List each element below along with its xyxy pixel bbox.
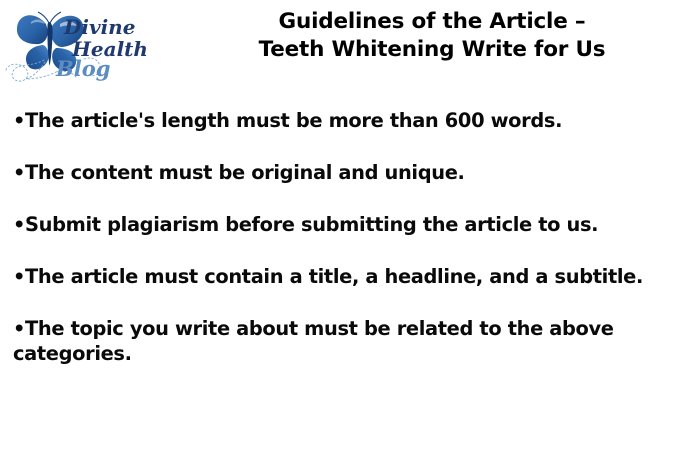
- list-item: •The topic you write about must be relat…: [13, 316, 673, 366]
- slide-page: Divine Health Blog Guidelines of the Art…: [0, 0, 700, 450]
- logo-word-blog: Blog: [55, 56, 110, 81]
- logo-word-divine: Divine: [63, 15, 135, 39]
- list-item: •The content must be original and unique…: [13, 160, 673, 185]
- list-item: •The article must contain a title, a hea…: [13, 264, 673, 289]
- bullet-icon: •: [13, 265, 25, 288]
- logo-artwork: Divine Health Blog: [4, 4, 159, 86]
- logo-wordmark: Divine Health Blog: [55, 15, 148, 81]
- page-title-line-1: Guidelines of the Article –: [172, 8, 692, 36]
- list-item-text: The article must contain a title, a head…: [25, 265, 643, 288]
- divine-health-blog-logo: Divine Health Blog: [4, 4, 159, 86]
- page-title: Guidelines of the Article – Teeth Whiten…: [172, 8, 692, 64]
- list-item: •Submit plagiarism before submitting the…: [13, 212, 673, 237]
- bullet-icon: •: [13, 317, 25, 340]
- list-item-text: The topic you write about must be relate…: [13, 317, 614, 365]
- bullet-icon: •: [13, 213, 25, 236]
- list-item-text: Submit plagiarism before submitting the …: [25, 213, 598, 236]
- list-item-text: The article's length must be more than 6…: [25, 109, 562, 132]
- slide-header: Divine Health Blog Guidelines of the Art…: [0, 0, 700, 92]
- bullet-icon: •: [13, 109, 25, 132]
- bullet-icon: •: [13, 161, 25, 184]
- page-title-line-2: Teeth Whitening Write for Us: [172, 36, 692, 64]
- guidelines-list: •The article's length must be more than …: [13, 108, 673, 366]
- list-item: •The article's length must be more than …: [13, 108, 673, 133]
- list-item-text: The content must be original and unique.: [25, 161, 464, 184]
